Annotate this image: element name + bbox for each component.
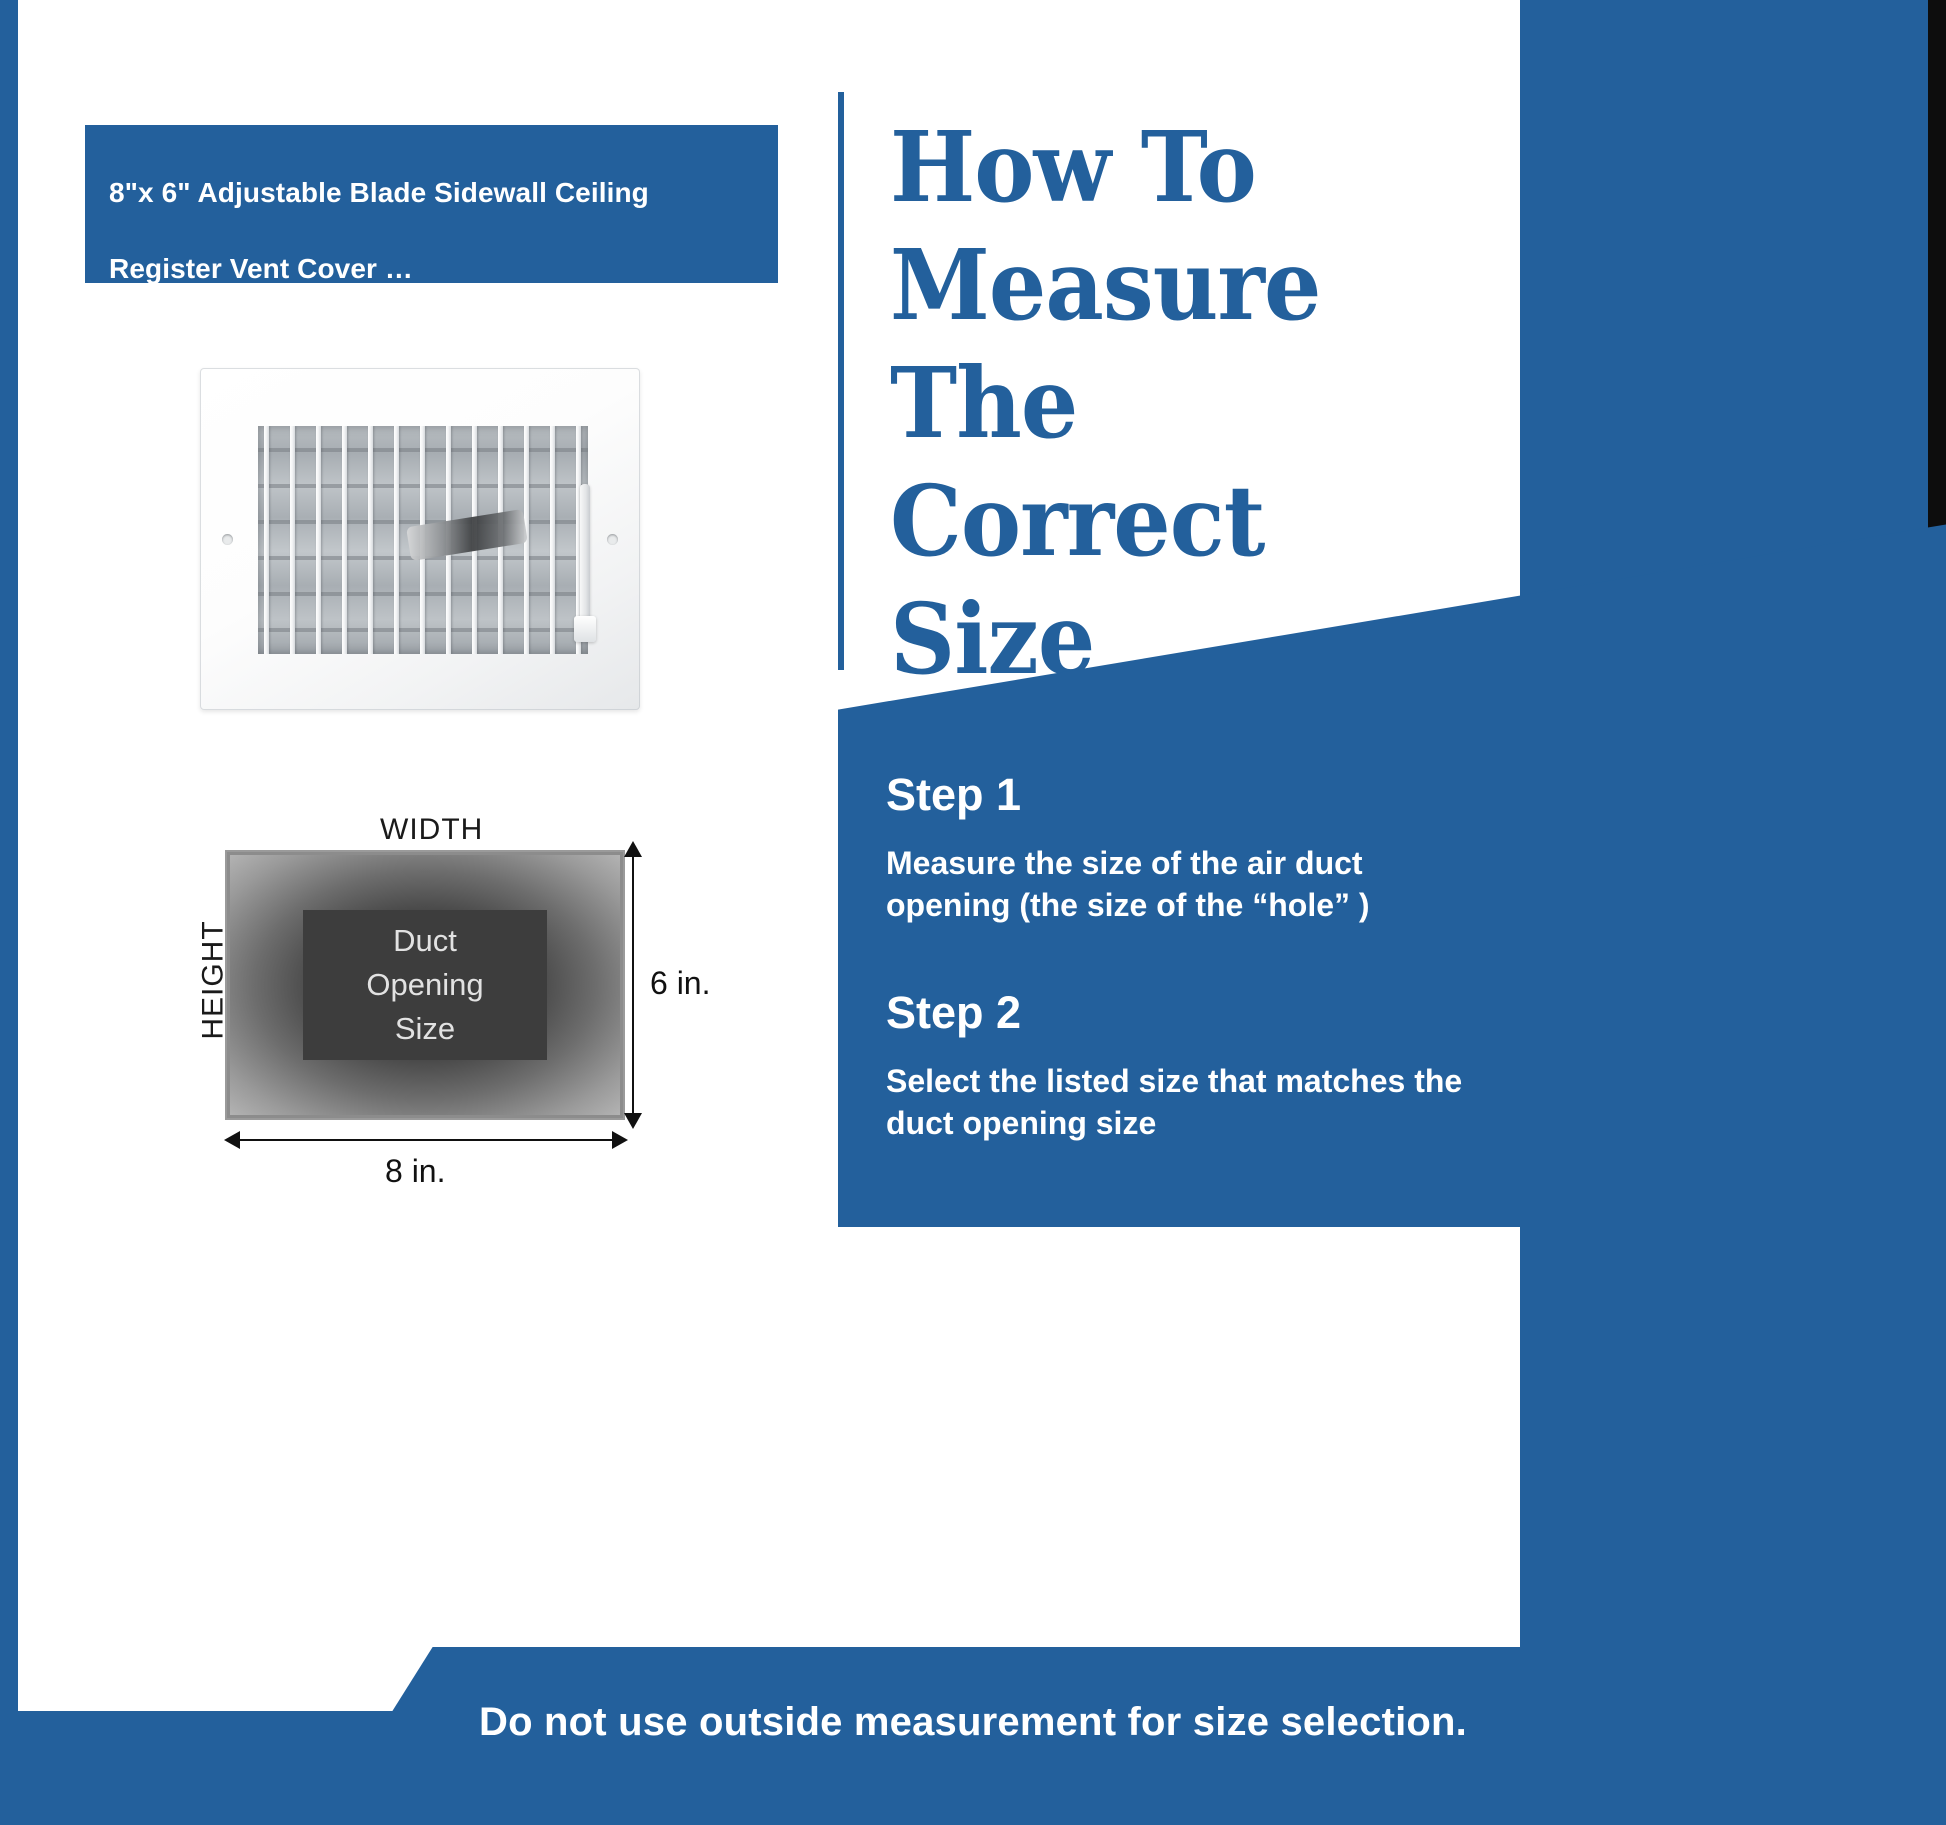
duct-label-line-2: Opening <box>366 963 483 1007</box>
infographic-page: 8"x 6" Adjustable Blade Sidewall Ceiling… <box>0 0 1946 1825</box>
screw-hole-right-icon <box>607 534 618 545</box>
step-1-block: Step 1 Measure the size of the air duct … <box>886 768 1486 926</box>
step-1-body: Measure the size of the air duct opening… <box>886 842 1486 926</box>
duct-label-line-3: Size <box>395 1007 455 1051</box>
step-1-title: Step 1 <box>886 768 1486 822</box>
steps-content: Step 1 Measure the size of the air duct … <box>886 768 1486 1144</box>
vent-louvers <box>258 426 588 654</box>
footer-note: Do not use outside measurement for size … <box>0 1700 1946 1745</box>
vertical-dimension-arrow-top-icon <box>624 841 642 857</box>
vertical-divider <box>838 92 844 670</box>
vent-damper-lever <box>580 484 590 634</box>
duct-box: Duct Opening Size <box>225 850 625 1120</box>
vertical-dimension-line <box>632 847 634 1123</box>
product-title-label: 8"x 6" Adjustable Blade Sidewall Ceiling… <box>85 125 778 283</box>
horizontal-dimension-line <box>232 1139 620 1141</box>
vertical-dimension-label: 6 in. <box>650 965 710 1002</box>
vertical-dimension-arrow-bottom-icon <box>624 1113 642 1129</box>
step-2-block: Step 2 Select the listed size that match… <box>886 986 1486 1144</box>
duct-opening-area: Duct Opening Size <box>303 910 547 1060</box>
horizontal-dimension-arrow-right-icon <box>612 1131 628 1149</box>
duct-label-line-1: Duct <box>393 919 457 963</box>
duct-opening-diagram: WIDTH HEIGHT Duct Opening Size 6 in. 8 i… <box>180 805 740 1205</box>
step-2-body: Select the listed size that matches the … <box>886 1060 1486 1144</box>
horizontal-dimension-label: 8 in. <box>385 1153 445 1190</box>
product-title-line-1: 8"x 6" Adjustable Blade Sidewall Ceiling <box>109 155 778 231</box>
vent-damper-knob <box>574 616 596 642</box>
product-photo <box>200 368 640 710</box>
product-title-line-2: Register Vent Cover … <box>109 231 778 307</box>
width-axis-label: WIDTH <box>380 813 483 847</box>
horizontal-dimension-arrow-left-icon <box>224 1131 240 1149</box>
step-2-title: Step 2 <box>886 986 1486 1040</box>
page-title: How To Measure The Correct Size <box>890 108 1467 698</box>
screw-hole-left-icon <box>222 534 233 545</box>
